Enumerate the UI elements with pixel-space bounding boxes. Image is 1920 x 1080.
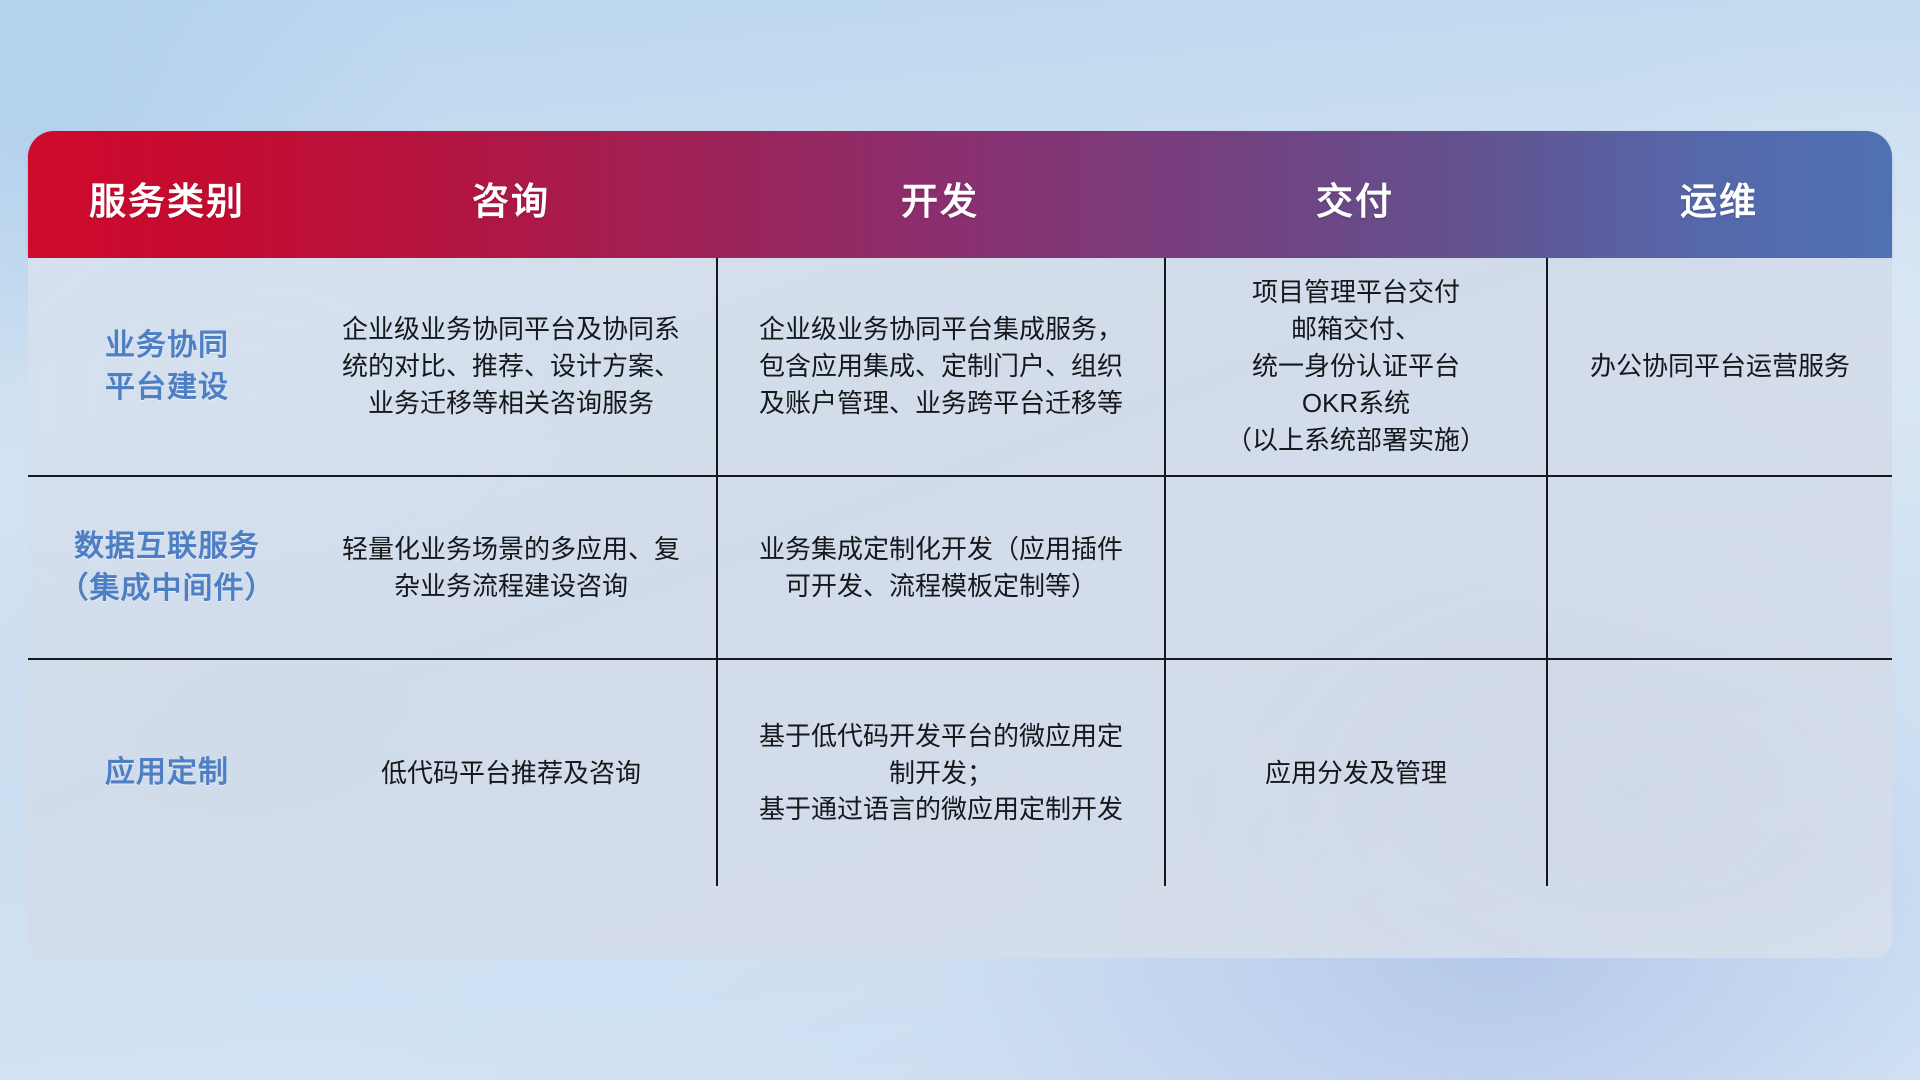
column-header-category: 服务类别	[28, 171, 306, 258]
cell-operations: 办公协同平台运营服务	[1546, 258, 1892, 475]
table-row: 应用定制 低代码平台推荐及咨询 基于低代码开发平台的微应用定 制开发； 基于通过…	[28, 660, 1892, 886]
cell-delivery: 应用分发及管理	[1164, 660, 1546, 886]
cell-consulting: 企业级业务协同平台及协同系 统的对比、推荐、设计方案、 业务迁移等相关咨询服务	[306, 258, 716, 475]
cell-delivery: 项目管理平台交付 邮箱交付、 统一身份认证平台 OKR系统 （以上系统部署实施）	[1164, 258, 1546, 475]
column-header-delivery: 交付	[1164, 171, 1546, 258]
table-body: 业务协同 平台建设 企业级业务协同平台及协同系 统的对比、推荐、设计方案、 业务…	[28, 258, 1892, 958]
table-header-row: 服务类别 咨询 开发 交付 运维	[28, 131, 1892, 258]
cell-consulting: 轻量化业务场景的多应用、复 杂业务流程建设咨询	[306, 477, 716, 658]
row-category-label: 应用定制	[28, 660, 306, 886]
cell-development: 企业级业务协同平台集成服务， 包含应用集成、定制门户、组织 及账户管理、业务跨平…	[716, 258, 1164, 475]
row-category-label: 数据互联服务 （集成中间件）	[28, 477, 306, 658]
table-row: 业务协同 平台建设 企业级业务协同平台及协同系 统的对比、推荐、设计方案、 业务…	[28, 258, 1892, 477]
service-matrix-table: 服务类别 咨询 开发 交付 运维 业务协同 平台建设 企业级业务协同平台及协同系…	[28, 131, 1892, 958]
column-header-consulting: 咨询	[306, 171, 716, 258]
column-header-development: 开发	[716, 171, 1164, 258]
cell-development: 基于低代码开发平台的微应用定 制开发； 基于通过语言的微应用定制开发	[716, 660, 1164, 886]
cell-development: 业务集成定制化开发（应用插件 可开发、流程模板定制等）	[716, 477, 1164, 658]
cell-operations	[1546, 477, 1892, 658]
cell-operations	[1546, 660, 1892, 886]
cell-consulting: 低代码平台推荐及咨询	[306, 660, 716, 886]
cell-delivery	[1164, 477, 1546, 658]
table-row: 数据互联服务 （集成中间件） 轻量化业务场景的多应用、复 杂业务流程建设咨询 业…	[28, 477, 1892, 660]
column-header-operations: 运维	[1546, 171, 1892, 258]
row-category-label: 业务协同 平台建设	[28, 258, 306, 475]
